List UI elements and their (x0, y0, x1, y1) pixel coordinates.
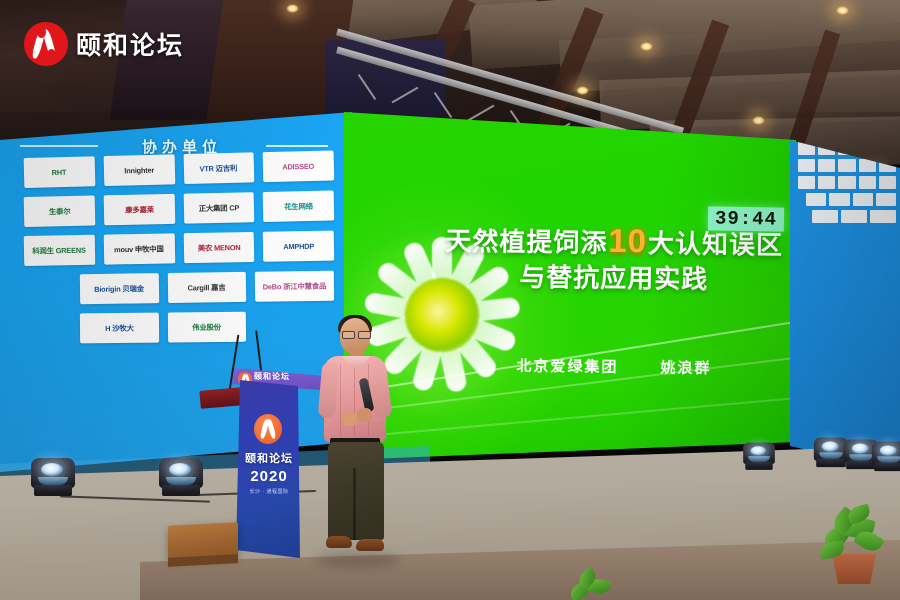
sponsor-logo[interactable] (879, 142, 896, 155)
sponsor-logo[interactable] (812, 210, 838, 223)
moving-head-light (30, 452, 76, 496)
watermark-logo: 颐和论坛 (24, 22, 184, 66)
sponsor-logo[interactable]: mouv 申牧中国 (103, 233, 174, 264)
countdown-timer: 39:44 (708, 206, 784, 231)
sponsor-logo[interactable] (806, 193, 826, 206)
sponsor-logo[interactable] (859, 176, 876, 189)
moving-head-light (158, 452, 204, 496)
forum-brand-mark-icon (24, 22, 68, 66)
left-hand (342, 412, 357, 426)
sponsor-logo[interactable]: AMPHDP (263, 231, 334, 262)
moving-head-light (871, 437, 900, 471)
sponsor-logo[interactable]: VTR 迈吉利 (183, 152, 254, 184)
sponsor-logo[interactable]: 花生网络 (263, 191, 334, 222)
sponsor-logo[interactable]: RHT (24, 156, 95, 188)
ceiling-downlight (576, 86, 589, 95)
sponsor-logo[interactable]: ADISSEO (263, 150, 334, 182)
sponsor-logo[interactable] (859, 142, 876, 155)
podium-top-label: 颐和论坛 (254, 371, 290, 382)
sponsor-logo[interactable] (853, 193, 873, 206)
potted-plant (565, 568, 621, 600)
sponsor-logo[interactable]: 正大集团 CP (183, 192, 254, 223)
sponsor-logo[interactable]: 康多嘉莱 (103, 194, 174, 225)
sponsor-logo[interactable] (838, 159, 855, 172)
sponsor-logo[interactable] (870, 210, 896, 223)
presentation-screen: 天然植提饲添10大认知误区 与替抗应用实践 北京爱绿集团姚浪群 39:44 (344, 112, 796, 472)
sponsor-logo[interactable] (818, 176, 835, 189)
podium-year: 2020 (242, 468, 296, 485)
podium: 颐和论坛 2020 长沙 · 通程国际 (236, 380, 300, 558)
sponsor-logo[interactable] (829, 193, 849, 206)
left-shoe (326, 536, 352, 548)
sponsor-logo[interactable] (841, 210, 867, 223)
sponsor-logo[interactable] (798, 159, 815, 172)
podium-location: 长沙 · 通程国际 (242, 488, 296, 495)
sponsor-board-right: 支持单位 (790, 112, 900, 472)
watermark-text: 颐和论坛 (76, 26, 184, 62)
sponsor-logo[interactable]: 科润生 GREENS (24, 235, 95, 266)
sponsor-logo[interactable]: 生泰尔 (24, 196, 95, 227)
sponsor-logo-grid: RHT lnnighter VTR 迈吉利 ADISSEO 生泰尔 康多嘉莱 正… (24, 158, 334, 353)
slide-title-number: 10 (607, 222, 648, 259)
sponsor-logo[interactable] (879, 159, 896, 172)
sponsor-board-left: 协办单位 RHT lnnighter VTR 迈吉利 ADISSEO 生泰尔 康… (0, 112, 352, 472)
slide-presenter-line: 北京爱绿集团姚浪群 (444, 354, 784, 379)
ceiling-downlight (836, 6, 849, 15)
moving-head-light (742, 438, 775, 470)
right-hand (357, 408, 372, 422)
wooden-box-prop (168, 522, 238, 560)
conference-stage-photo: 协办单位 RHT lnnighter VTR 迈吉利 ADISSEO 生泰尔 康… (0, 0, 900, 600)
slide-company: 北京爱绿集团 (516, 358, 618, 376)
speaker-person (318, 318, 394, 566)
ceiling-downlight (286, 4, 299, 13)
sponsor-logo[interactable]: 美农 MENON (183, 232, 254, 263)
slide-speaker-name: 姚浪群 (660, 360, 711, 378)
sponsor-logo[interactable]: DeBo 浙江中慧食品 (255, 271, 334, 302)
sponsor-board-right-header: 支持单位 (804, 128, 890, 138)
plant-pot (832, 554, 876, 584)
sponsor-logo[interactable] (818, 159, 835, 172)
sponsor-logo[interactable] (798, 176, 815, 189)
glasses-icon (342, 331, 369, 337)
sponsor-logo[interactable]: lnnighter (103, 154, 174, 186)
led-video-wall: 协办单位 RHT lnnighter VTR 迈吉利 ADISSEO 生泰尔 康… (0, 112, 900, 472)
sponsor-logo[interactable]: 伟业股份 (168, 312, 247, 343)
sponsor-logo[interactable] (798, 142, 815, 155)
sponsor-logo[interactable] (876, 193, 896, 206)
trousers (328, 442, 384, 540)
forum-logo-mark (254, 414, 282, 444)
podium-brand: 颐和论坛 (242, 450, 296, 466)
ceiling-downlight (640, 42, 653, 51)
sponsor-logo[interactable] (838, 176, 855, 189)
right-shoe (356, 539, 384, 551)
sponsor-logo[interactable] (859, 159, 876, 172)
sponsor-logo[interactable]: Biorigin 贝瑞金 (80, 273, 159, 304)
sponsor-logo[interactable]: H 沙牧大 (80, 313, 159, 344)
potted-plant (818, 506, 888, 584)
sponsor-logo[interactable] (838, 142, 855, 155)
sponsor-logo-grid-right (798, 142, 896, 227)
sponsor-logo[interactable] (818, 142, 835, 155)
sponsor-logo[interactable]: Cargill 嘉吉 (167, 272, 246, 303)
sponsor-logo[interactable] (879, 176, 896, 189)
